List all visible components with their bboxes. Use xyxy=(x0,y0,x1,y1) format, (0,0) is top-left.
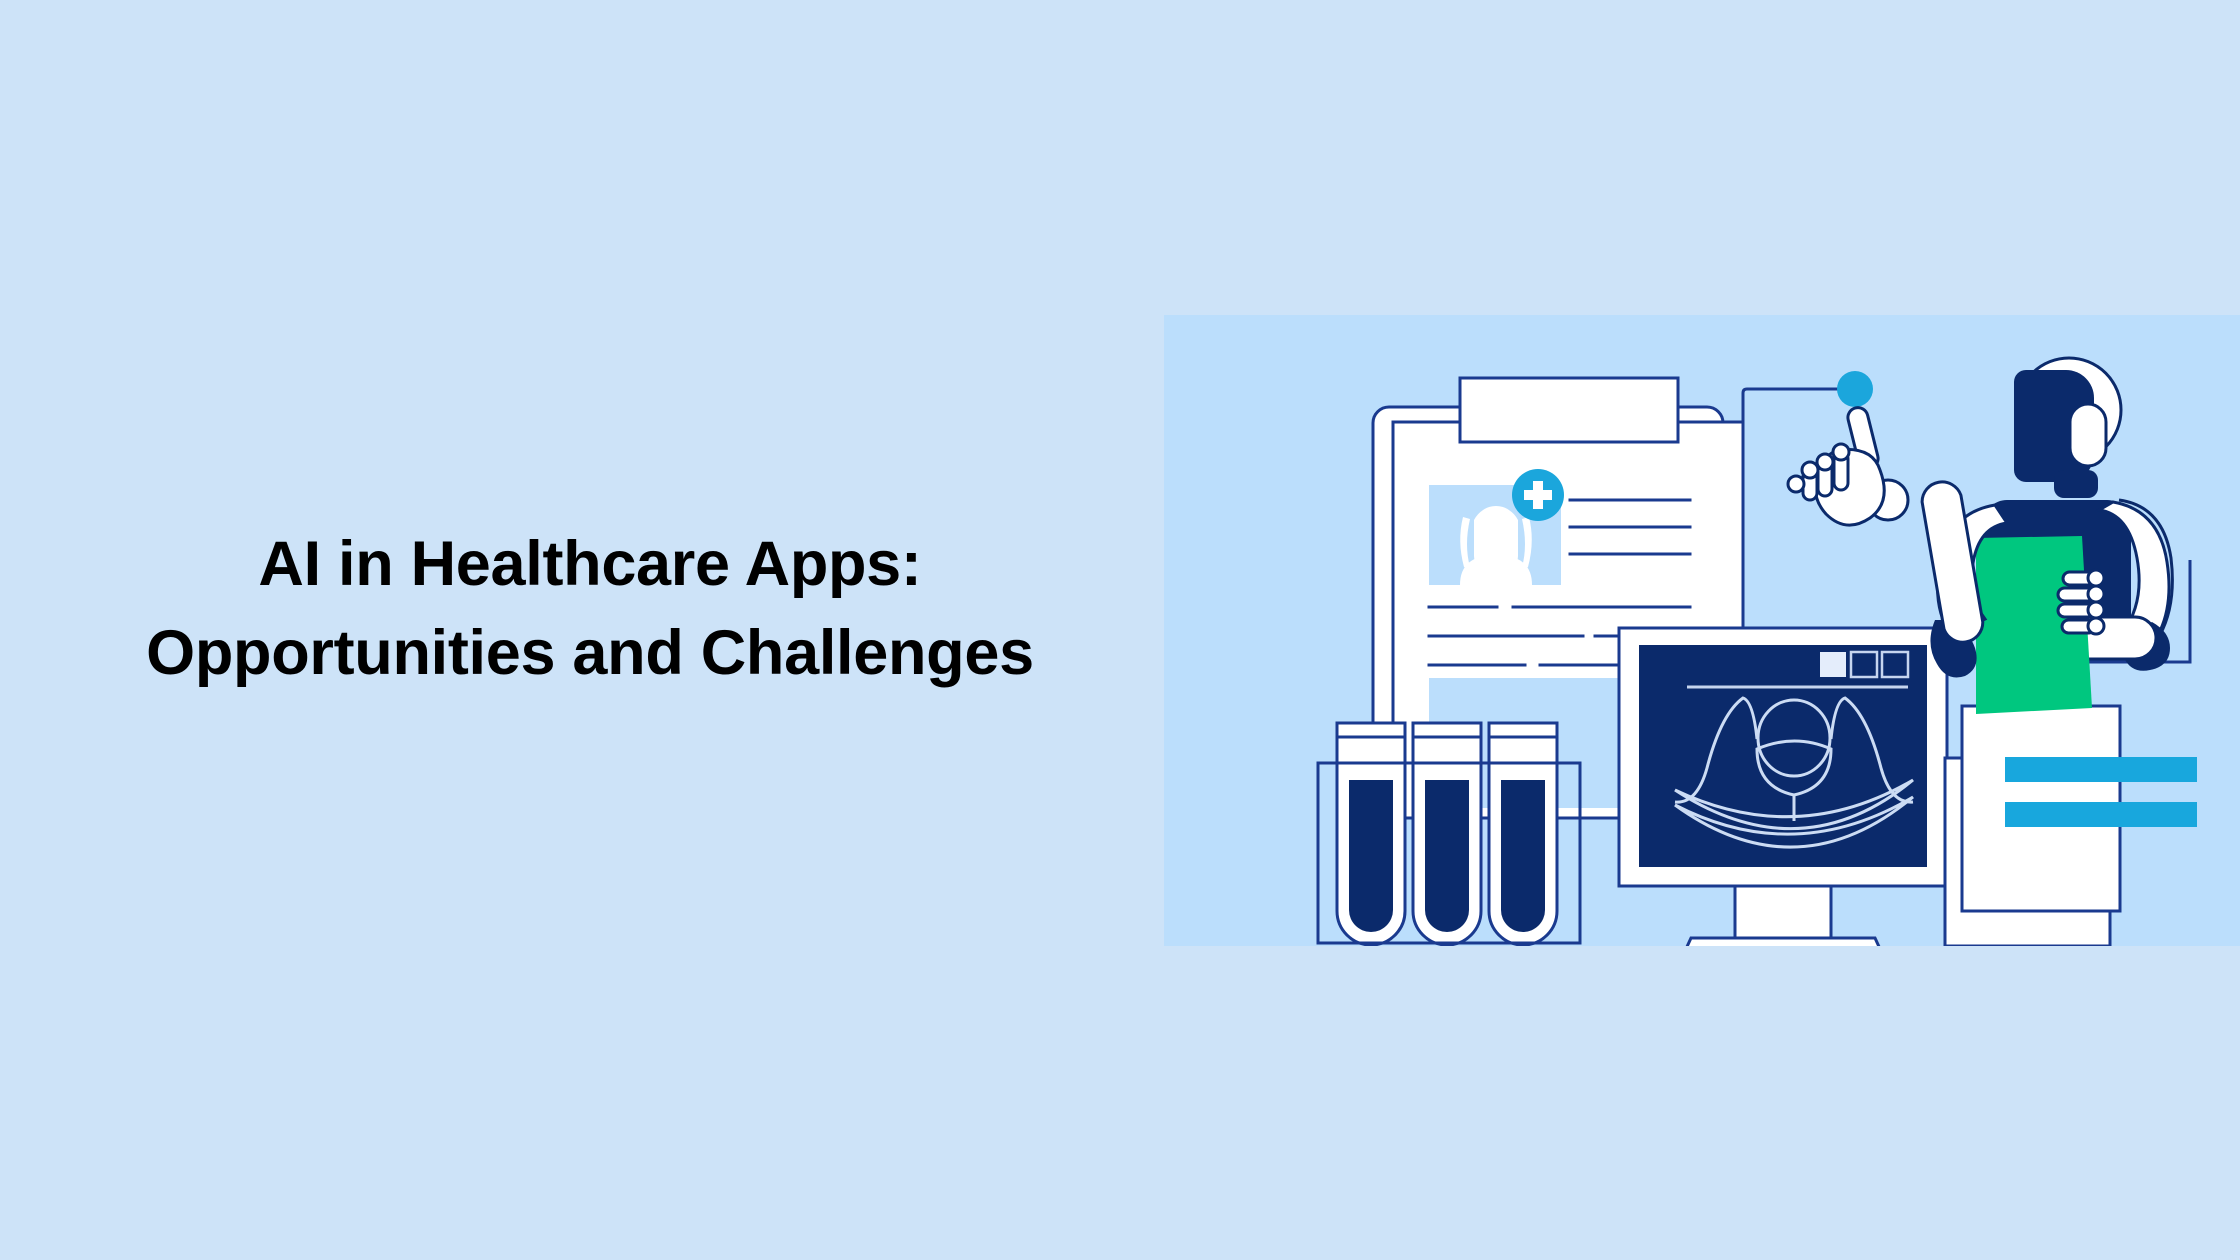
robot-head xyxy=(2014,358,2121,482)
connector-node xyxy=(1837,371,1873,407)
document-bar xyxy=(2005,757,2197,782)
test-tube-rack xyxy=(1318,723,1580,945)
document-cards xyxy=(1945,706,2197,946)
test-tube xyxy=(1337,723,1405,945)
test-tube xyxy=(1489,723,1557,945)
document-bar xyxy=(2005,802,2197,827)
monitor-stand xyxy=(1735,880,1831,938)
headline-block: AI in Healthcare Apps: Opportunities and… xyxy=(80,520,1100,699)
healthcare-banner: AI in Healthcare Apps: Opportunities and… xyxy=(0,0,2240,1260)
robot-hand-right xyxy=(2058,570,2104,634)
test-tube xyxy=(1413,723,1481,945)
robot-ear xyxy=(2070,404,2106,466)
monitor-base xyxy=(1669,938,1897,946)
ultrasound-monitor xyxy=(1619,628,1947,946)
healthcare-ai-illustration xyxy=(1164,315,2240,946)
robot-hand-pointing xyxy=(1788,406,1908,526)
clipboard-clip xyxy=(1460,378,1678,442)
medical-cross-badge xyxy=(1512,469,1564,521)
page-title: AI in Healthcare Apps: Opportunities and… xyxy=(80,520,1100,699)
illustration-panel xyxy=(1164,315,2240,946)
robot-neck xyxy=(2054,470,2098,498)
